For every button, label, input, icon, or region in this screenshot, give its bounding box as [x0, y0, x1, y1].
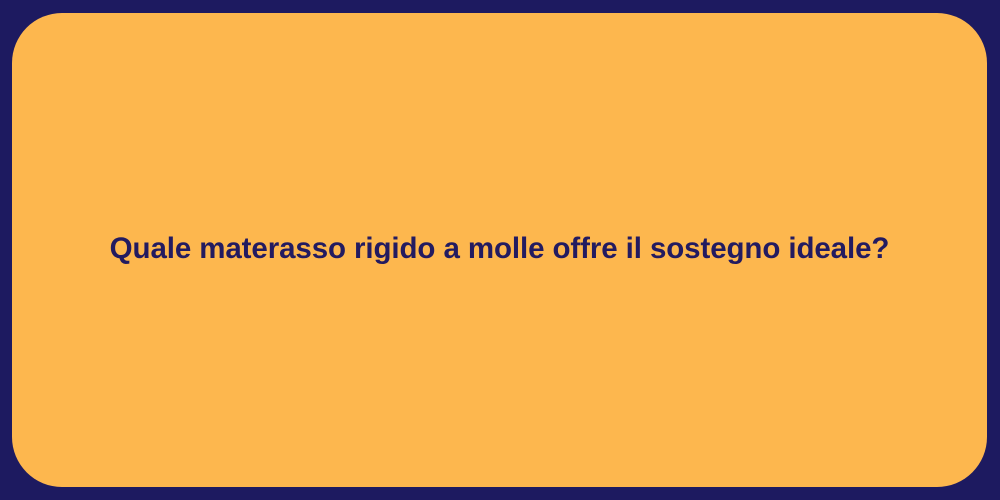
banner-card: Quale materasso rigido a molle offre il …	[12, 13, 987, 487]
banner-frame: Quale materasso rigido a molle offre il …	[0, 0, 1000, 500]
banner-headline: Quale materasso rigido a molle offre il …	[12, 231, 987, 268]
